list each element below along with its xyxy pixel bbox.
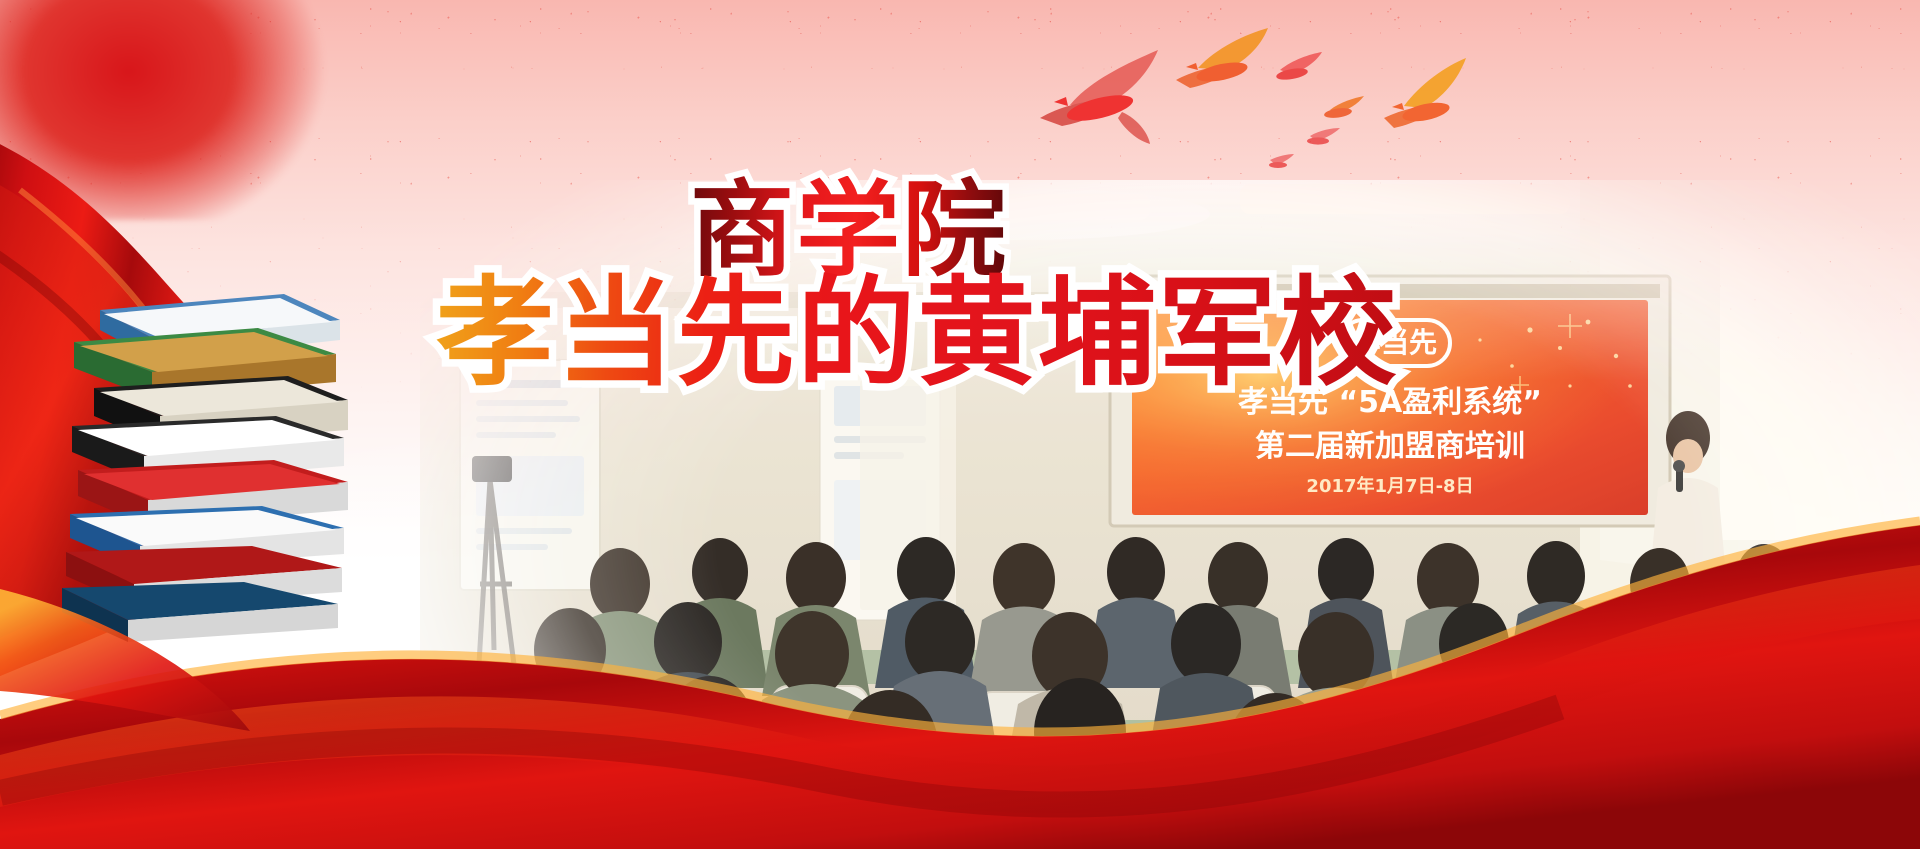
dove-small-red-2-icon — [1324, 96, 1364, 119]
dove-tiny-2-icon — [1269, 154, 1294, 168]
ribbon-bottom — [0, 469, 1920, 849]
dove-orange-right-icon — [1384, 58, 1466, 128]
dove-flock — [980, 10, 1540, 210]
dove-orange-icon — [1176, 28, 1268, 88]
dove-tiny-1-icon — [1307, 128, 1340, 145]
dove-small-red-1-icon — [1275, 52, 1322, 82]
promo-banner: 孝当先 孝当先 “5A盈利系统” 第二届新加盟商培训 2017年1月7日-8日 — [0, 0, 1920, 849]
dove-large-red-icon — [1040, 50, 1158, 144]
